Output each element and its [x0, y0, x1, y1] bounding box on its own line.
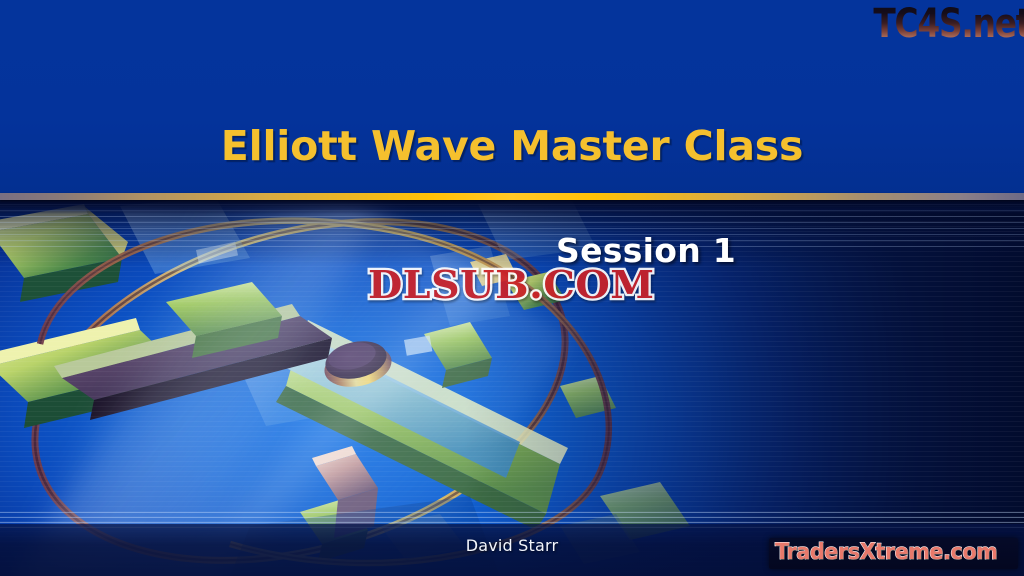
- divider-shadow: [0, 200, 1024, 214]
- graphic-stage: [0, 196, 1024, 576]
- gold-divider: [0, 193, 1024, 200]
- presentation-slide: TC4S.net Elliott Wave Master Class: [0, 0, 1024, 576]
- dlsub-watermark: DLSUB.COM: [368, 264, 655, 306]
- slide-title: Elliott Wave Master Class: [0, 122, 1024, 170]
- tc4s-watermark: TC4S.net: [873, 2, 1024, 46]
- tradersxtreme-badge: TradersXtreme.com: [769, 538, 1018, 569]
- tradersxtreme-watermark: TradersXtreme.com: [775, 540, 997, 566]
